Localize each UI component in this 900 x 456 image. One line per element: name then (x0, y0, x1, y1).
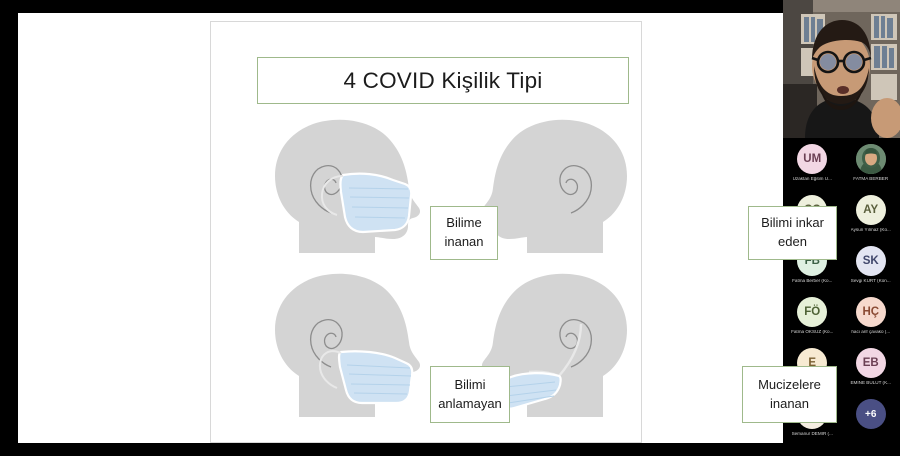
avatar-overflow-count: +6 (856, 399, 886, 429)
figure-mask-worn-correctly (269, 118, 444, 253)
participant-name: FATMA BERBER (853, 177, 888, 182)
participant-row: UMUzaktan Eğitim U...FATMA BERBER (783, 144, 900, 195)
participant-tile[interactable]: AYAysun Yılmaz (Ko... (844, 195, 898, 233)
slide-canvas: 4 COVID Kişilik Tipi (18, 13, 783, 443)
participant-tile[interactable]: SKSevgi KURT (Kon... (844, 246, 898, 284)
avatar-initials: FÖ (797, 297, 827, 327)
webcam-feed-icon (783, 0, 900, 138)
avatar-initials: SK (856, 246, 886, 276)
participant-name: Uzaktan Eğitim U... (793, 177, 832, 182)
participant-tile[interactable]: FATMA BERBER (844, 144, 898, 182)
slide-content-frame: 4 COVID Kişilik Tipi (210, 21, 642, 443)
meeting-screen: 4 COVID Kişilik Tipi (0, 0, 900, 456)
slide-title-box: 4 COVID Kişilik Tipi (257, 57, 629, 104)
caption-bilimi-anlamayan: Bilimi anlamayan (430, 366, 510, 423)
page-title: 4 COVID Kişilik Tipi (343, 68, 542, 94)
participant-name: hacı arif çavako (... (851, 330, 890, 335)
participant-name: Fatma Berber (Ko... (792, 279, 832, 284)
participant-name: Aysun Yılmaz (Ko... (851, 228, 891, 233)
screen-share-stage[interactable]: 4 COVID Kişilik Tipi (0, 0, 783, 456)
person-photo-icon (856, 144, 886, 174)
participant-name: Sevgi KURT (Kon... (851, 279, 891, 284)
caption-bilime-inanan: Bilime inanan (430, 206, 498, 260)
participant-overflow-tile[interactable]: +6 (844, 399, 898, 432)
caption-bilimi-inkar-eden: Bilimi inkar eden (748, 206, 837, 260)
caption-mucizelere-inanan: Mucizelere inanan (742, 366, 837, 423)
participant-name: Fatma ÖKSÜZ (Ko... (791, 330, 833, 335)
avatar-photo (856, 144, 886, 174)
participant-tile[interactable]: FÖFatma ÖKSÜZ (Ko... (785, 297, 839, 335)
participant-name: EMİNE BULUT (K... (850, 381, 891, 386)
presenter-video-tile[interactable] (783, 0, 900, 138)
avatar-initials: AY (856, 195, 886, 225)
participant-tile[interactable]: EBEMİNE BULUT (K... (844, 348, 898, 386)
participant-tile[interactable]: HÇhacı arif çavako (... (844, 297, 898, 335)
avatar-initials: EB (856, 348, 886, 378)
participant-tile[interactable]: UMUzaktan Eğitim U... (785, 144, 839, 182)
avatar-initials: HÇ (856, 297, 886, 327)
participant-name: Semanur DEMİR (... (792, 432, 833, 437)
avatar-initials: UM (797, 144, 827, 174)
participant-row: FÖFatma ÖKSÜZ (Ko...HÇhacı arif çavako (… (783, 297, 900, 348)
head-illustration-icon (269, 272, 444, 417)
head-illustration-icon (269, 118, 444, 253)
figure-mask-below-nose (269, 272, 444, 417)
